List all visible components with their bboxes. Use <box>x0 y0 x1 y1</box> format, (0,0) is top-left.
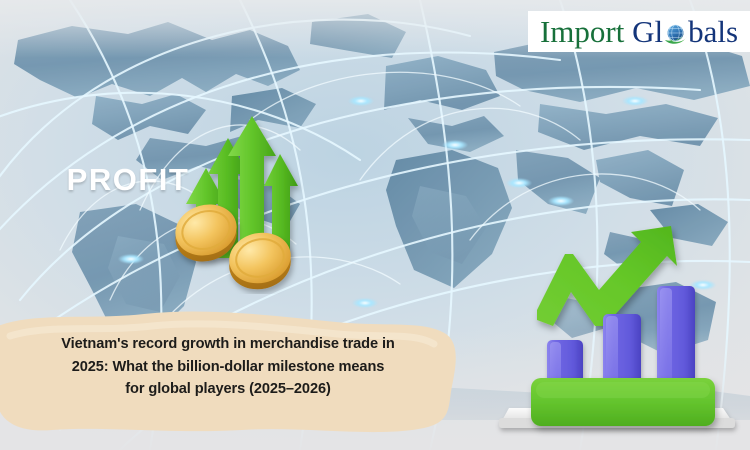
headline-line-1: Vietnam's record growth in merchandise t… <box>8 333 448 356</box>
brand-logo[interactable]: Import Gl <box>528 11 750 52</box>
profit-chart-icon <box>495 222 750 450</box>
headline-line-2: 2025: What the billion-dollar milestone … <box>8 356 448 379</box>
brand-word-prefix: Gl <box>632 16 663 47</box>
brand-word-import: Import <box>540 16 624 47</box>
map-node-glow <box>506 178 532 188</box>
globe-icon <box>663 21 688 46</box>
headline-text: Vietnam's record growth in merchandise t… <box>8 333 448 401</box>
map-node-glow <box>548 196 574 206</box>
map-node-glow <box>622 96 648 106</box>
brand-logo-text: Import Gl <box>540 16 738 47</box>
brand-word-suffix: bals <box>688 16 738 47</box>
map-node-glow <box>118 254 144 264</box>
promotional-banner: Vietnam's record growth in merchandise t… <box>0 0 750 450</box>
map-node-glow <box>348 96 374 106</box>
map-node-glow <box>442 140 468 150</box>
growth-arrows-icon <box>168 108 304 294</box>
headline-line-3: for global players (2025–2026) <box>8 378 448 401</box>
